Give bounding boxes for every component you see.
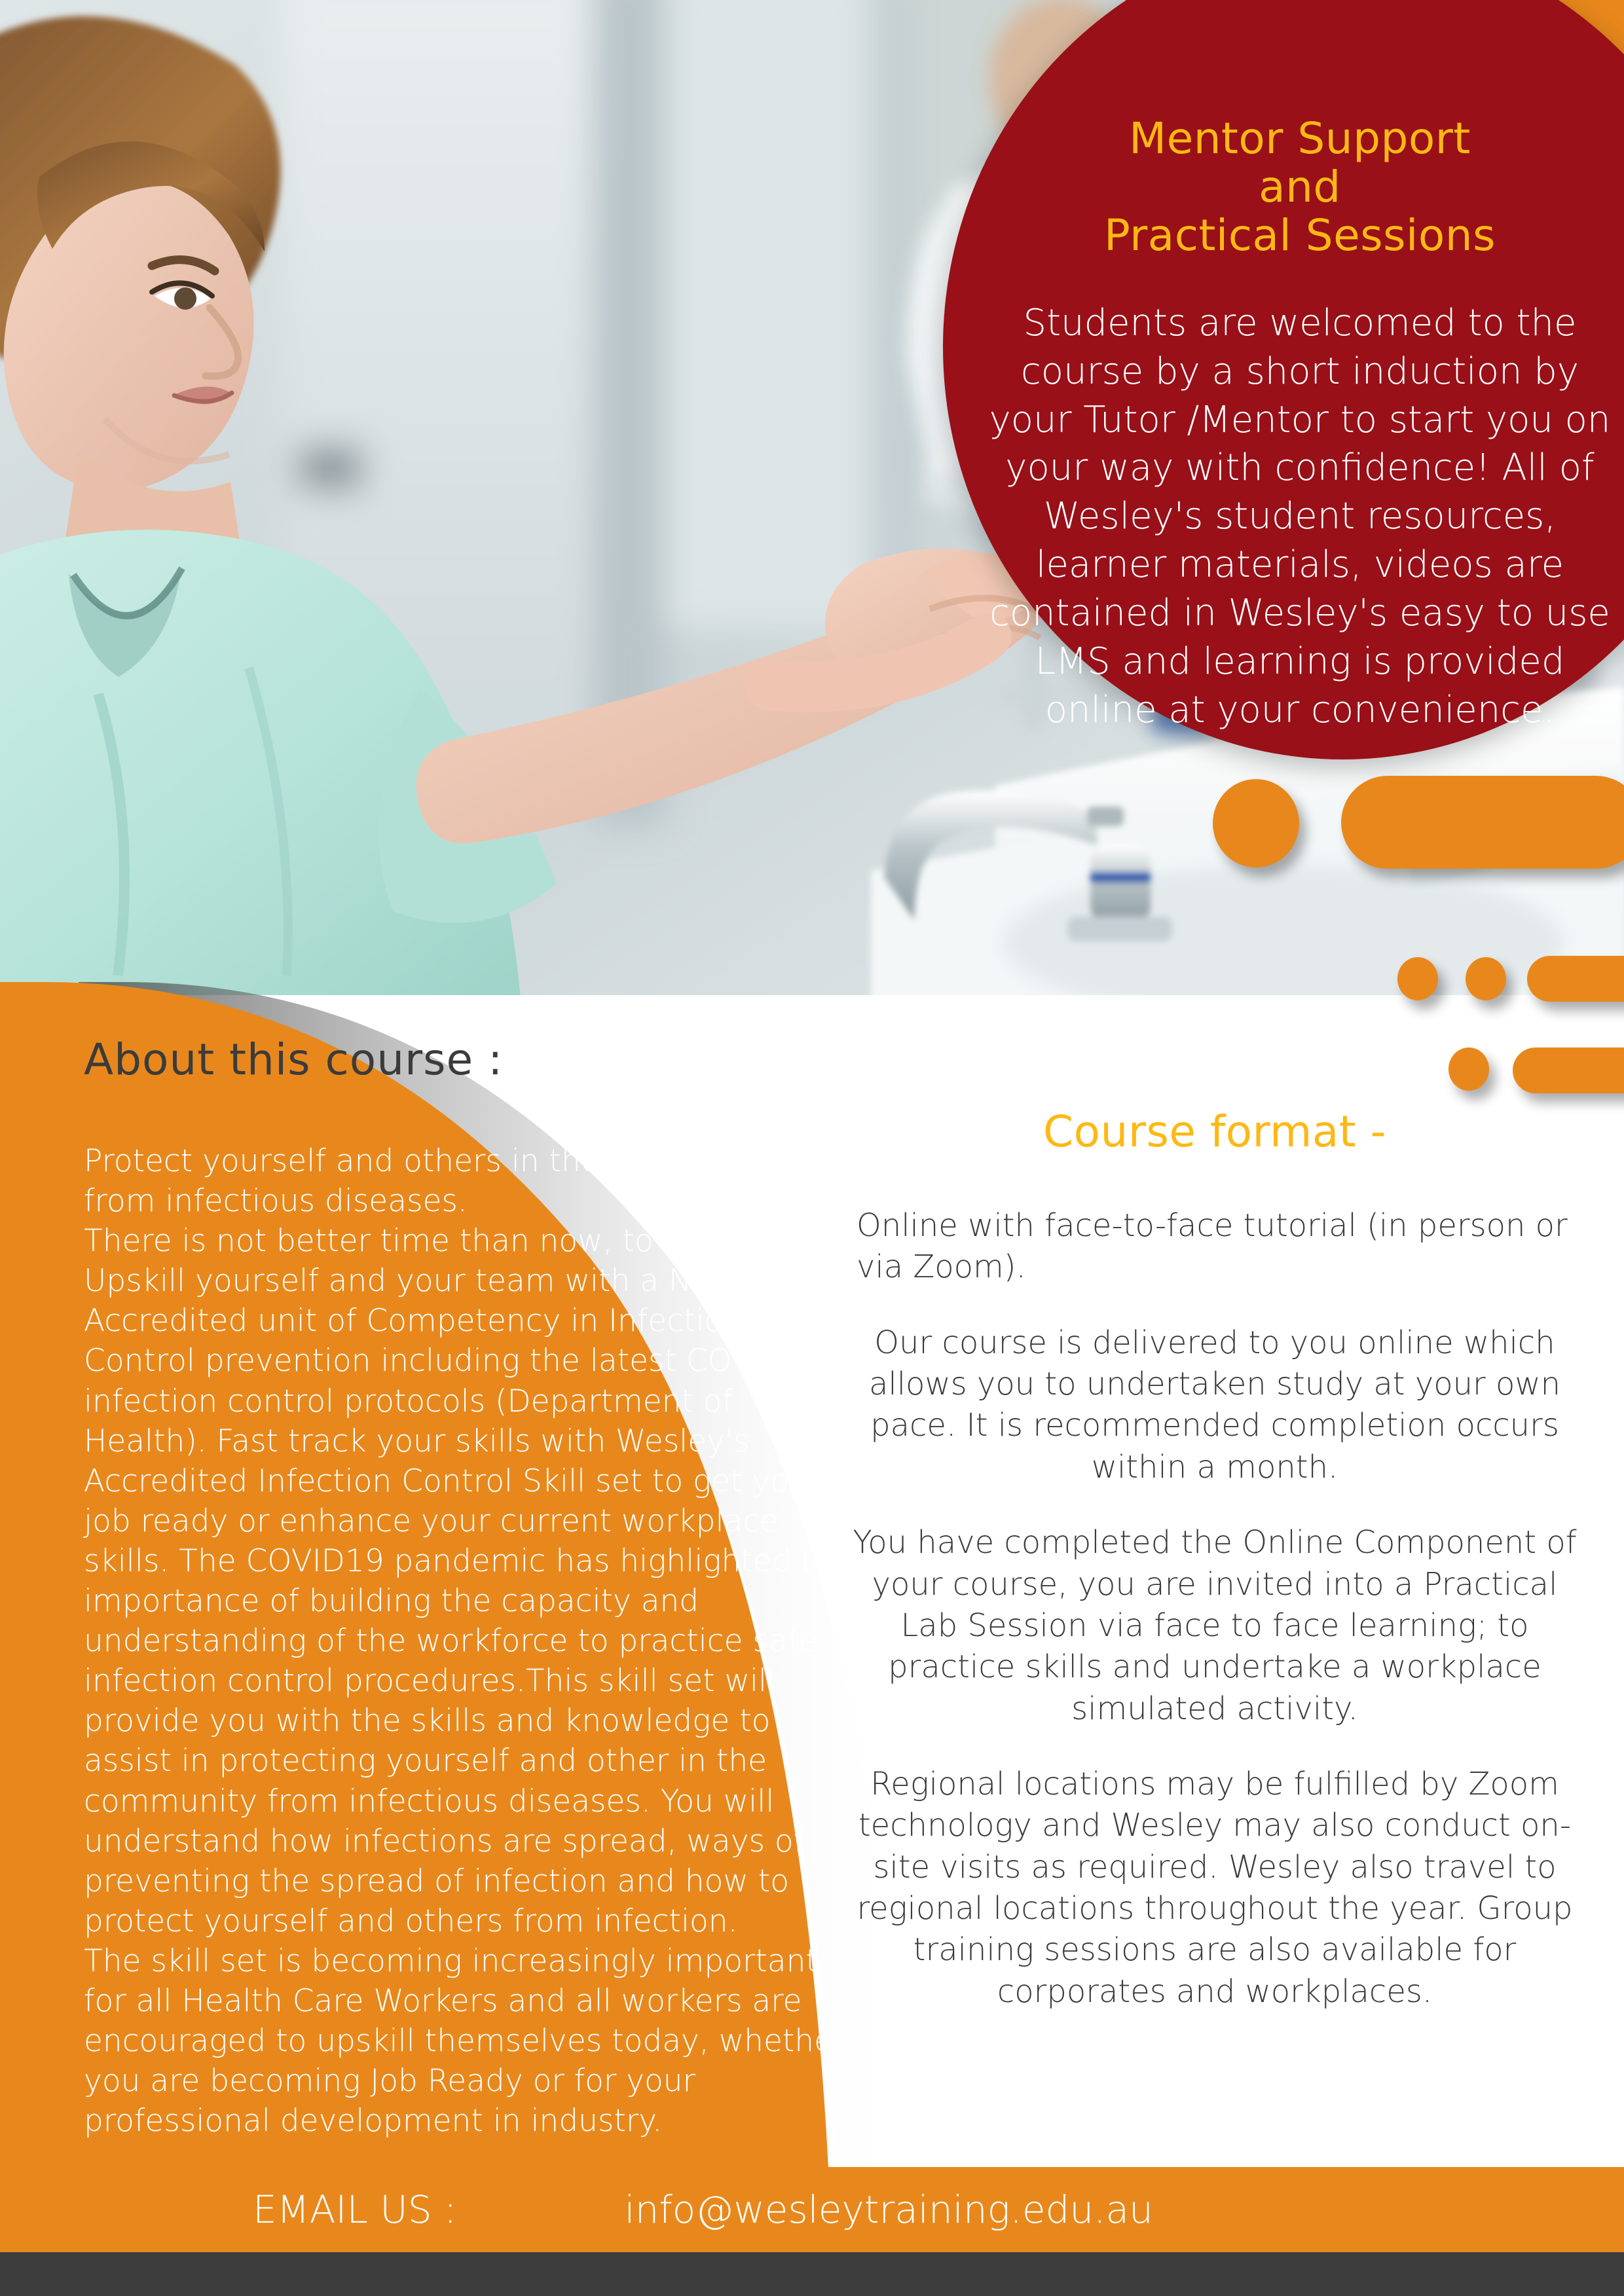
- about-course-heading: About this course :: [84, 1034, 863, 1085]
- course-format-paragraph-1: Online with face-to-face tutorial (in pe…: [845, 1205, 1585, 1288]
- mentor-support-title-line-2: and: [972, 163, 1624, 211]
- decorative-pill-3: [1513, 1048, 1624, 1093]
- about-paragraph-1: Protect yourself and others in the commu…: [84, 1141, 863, 1221]
- course-format-paragraph-3: You have completed the Online Component …: [845, 1522, 1585, 1730]
- footer-email-address[interactable]: info@wesleytraining.edu.au: [624, 2187, 1153, 2232]
- mentor-support-content: Mentor Support and Practical Sessions St…: [972, 115, 1624, 735]
- course-format-paragraph-4: Regional locations may be fulfilled by Z…: [845, 1764, 1585, 2013]
- about-course-body: Protect yourself and others in the commu…: [84, 1141, 863, 2141]
- decorative-circle-2: [1397, 957, 1438, 1000]
- footer-dark-strip: [0, 2252, 1624, 2296]
- footer-contact-row: EMAIL US : info@wesleytraining.edu.au: [0, 2167, 1624, 2252]
- decorative-circle-1: [1213, 779, 1299, 867]
- flyer-page: Mentor Support and Practical Sessions St…: [0, 0, 1624, 2296]
- mentor-support-body: Students are welcomed to the course by a…: [972, 299, 1624, 735]
- decorative-pill-2: [1527, 956, 1624, 1002]
- mentor-support-title: Mentor Support and Practical Sessions: [972, 115, 1624, 260]
- about-course-text-block: About this course : Protect yourself and…: [84, 1034, 863, 2141]
- about-paragraph-3: The skill set is becoming increasingly i…: [84, 1941, 863, 2141]
- decorative-circle-4: [1449, 1048, 1489, 1091]
- course-format-body: Online with face-to-face tutorial (in pe…: [845, 1205, 1585, 2013]
- mentor-support-title-line-1: Mentor Support: [972, 115, 1624, 163]
- mentor-support-title-line-3: Practical Sessions: [972, 211, 1624, 260]
- decorative-circle-3: [1466, 957, 1506, 1000]
- course-format-heading: Course format -: [845, 1106, 1585, 1157]
- decorative-pill-1: [1341, 776, 1624, 869]
- course-format-paragraph-2: Our course is delivered to you online wh…: [845, 1322, 1585, 1488]
- footer-email-label: EMAIL US :: [253, 2187, 456, 2232]
- course-format-block: Course format - Online with face-to-face…: [845, 1106, 1585, 2013]
- about-paragraph-2: There is not better time than now, to fo…: [84, 1221, 863, 1941]
